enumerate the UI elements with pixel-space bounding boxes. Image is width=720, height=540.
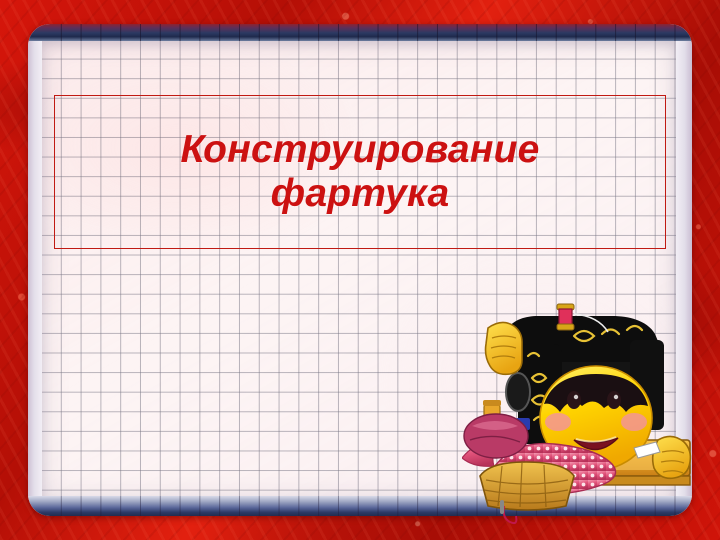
frame-left-edge — [28, 24, 42, 516]
frame-top-grid-ticks — [42, 24, 676, 41]
page-title: Конструирование фартука — [180, 128, 539, 215]
cloth-roll — [464, 414, 528, 458]
hand-left — [486, 322, 523, 374]
slide-root: Конструирование фартука — [0, 0, 720, 540]
face-cheek — [545, 413, 571, 431]
sewing-machine-illustration — [462, 300, 694, 526]
basket — [480, 462, 574, 510]
title-box: Конструирование фартука — [54, 95, 666, 249]
